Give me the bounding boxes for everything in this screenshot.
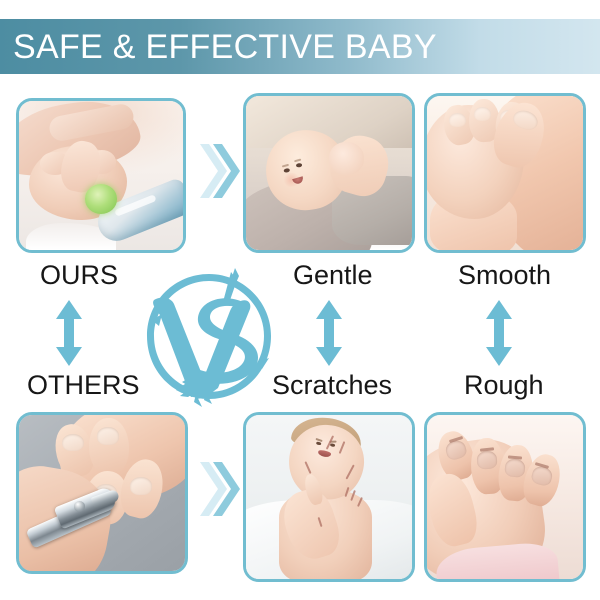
gentle-eye-shape [296,163,303,168]
label-gentle: Gentle [293,262,373,289]
double-chevron-right-icon [196,140,240,207]
gentle-photo [246,96,412,250]
double-chevron-right-icon [196,458,240,525]
smooth-photo [427,96,583,250]
photo-card-others [16,412,188,574]
others-photo [19,415,185,571]
rough-photo [427,415,583,579]
label-smooth: Smooth [458,262,551,289]
double-headed-vertical-arrow-icon [55,300,83,371]
photo-card-smooth [424,93,586,253]
vs-brush-badge-icon [138,266,280,408]
photo-card-scratches [243,412,415,582]
smooth-nail-shape [474,107,491,121]
infographic-root: SAFE & EFFECTIVE BABY [0,0,600,600]
scratches-eye-shape [330,443,336,447]
photo-card-rough [424,412,586,582]
rough-nail-shape [476,450,497,469]
double-headed-vertical-arrow-icon [485,300,513,371]
gentle-hand-shape [329,142,364,174]
gentle-brow-shape [282,164,289,167]
gentle-brow-shape [294,158,301,161]
label-ours: OURS [40,262,118,289]
scratches-mouth-shape [318,449,332,458]
photo-card-ours [16,98,186,253]
label-rough: Rough [464,372,544,399]
double-headed-vertical-arrow-icon [315,300,343,371]
label-others: OTHERS [27,372,140,399]
scratches-photo [246,415,412,579]
others-finger-shape [88,417,130,475]
scratches-brow-shape [316,437,323,441]
others-clipper-pin-shape [74,501,86,512]
page-title: SAFE & EFFECTIVE BABY [0,30,437,64]
smooth-nail-shape [449,113,466,127]
photo-card-gentle [243,93,415,253]
header-banner: SAFE & EFFECTIVE BABY [0,19,600,74]
others-nail-shape [130,477,152,494]
others-nail-shape [62,434,84,451]
label-scratches: Scratches [272,372,392,399]
others-nail-shape [97,427,119,444]
ours-photo [19,101,183,250]
